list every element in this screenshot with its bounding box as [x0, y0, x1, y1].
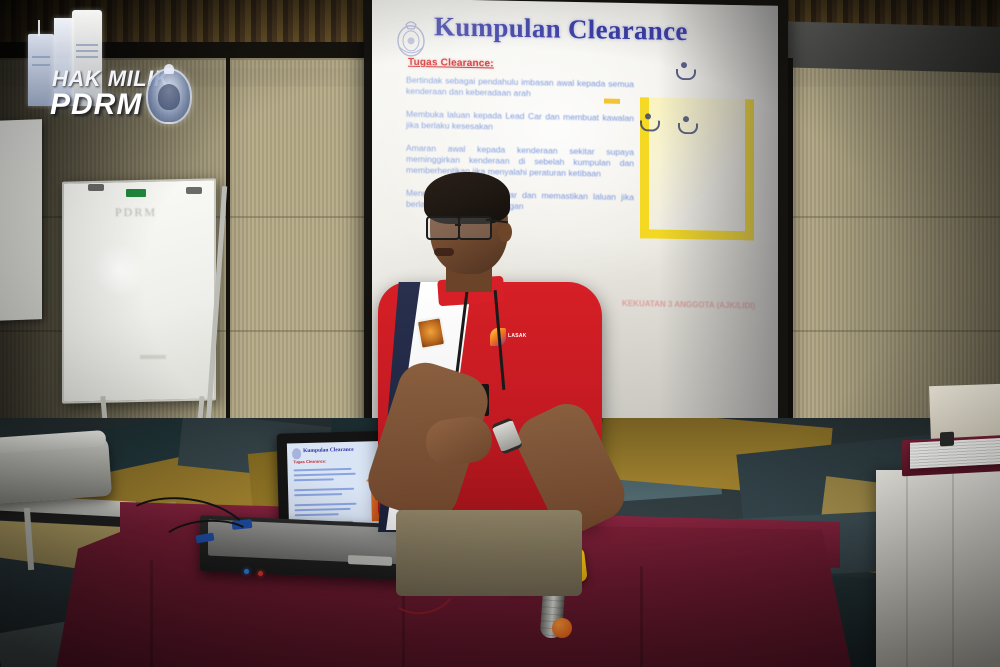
eyeglasses-bridge — [455, 224, 461, 226]
bound-document-stack — [910, 437, 1000, 468]
laptop-slide-title: Kumpulan Clearance — [303, 446, 373, 454]
flipchart-smudge — [140, 355, 166, 359]
binder-clip — [940, 432, 954, 447]
pdrm-crest-icon — [292, 448, 301, 459]
flipchart-green-tag — [126, 189, 146, 197]
eyeglasses-left-lens — [426, 216, 460, 240]
flipchart-faint-text: PDRM — [86, 205, 186, 220]
rider-icon — [640, 113, 656, 133]
panel-divider — [788, 58, 793, 458]
pdrm-crest-icon — [394, 17, 428, 60]
laptop-activity-led — [258, 571, 263, 576]
trousers — [396, 510, 582, 596]
pdrm-crest-icon — [146, 68, 192, 124]
tower-spire-icon — [38, 20, 40, 36]
side-table-skirt — [876, 470, 1000, 667]
radar-handle-tip — [552, 618, 572, 638]
shoulder-badge-patch — [416, 316, 447, 350]
laptop-slide-subtitle: Tugas Clearance: — [293, 458, 326, 464]
ear — [498, 222, 512, 242]
presenter: LASAK — [372, 170, 617, 590]
flipchart-clip — [88, 184, 104, 191]
far-whiteboard — [0, 119, 42, 321]
slide-bullet: Bertindak sebagai pendahulu imbasan awal… — [406, 75, 634, 102]
slide-subtitle: Tugas Clearance: — [408, 57, 494, 70]
watermark-line2: PDRM — [50, 88, 142, 122]
route-dash — [604, 99, 620, 104]
watermark: HAK MILIK PDRM — [14, 14, 194, 124]
screen-right-falloff — [658, 4, 778, 430]
conference-room-photo: Kumpulan Clearance Tugas Clearance: Bert… — [0, 0, 1000, 667]
slide-bullet: Membuka laluan kepada Lead Car dan membu… — [406, 109, 634, 136]
logo-text: LASAK — [508, 333, 527, 339]
laptop-power-led — [244, 569, 249, 574]
flipchart-clip — [186, 187, 202, 194]
mouth — [434, 248, 454, 256]
